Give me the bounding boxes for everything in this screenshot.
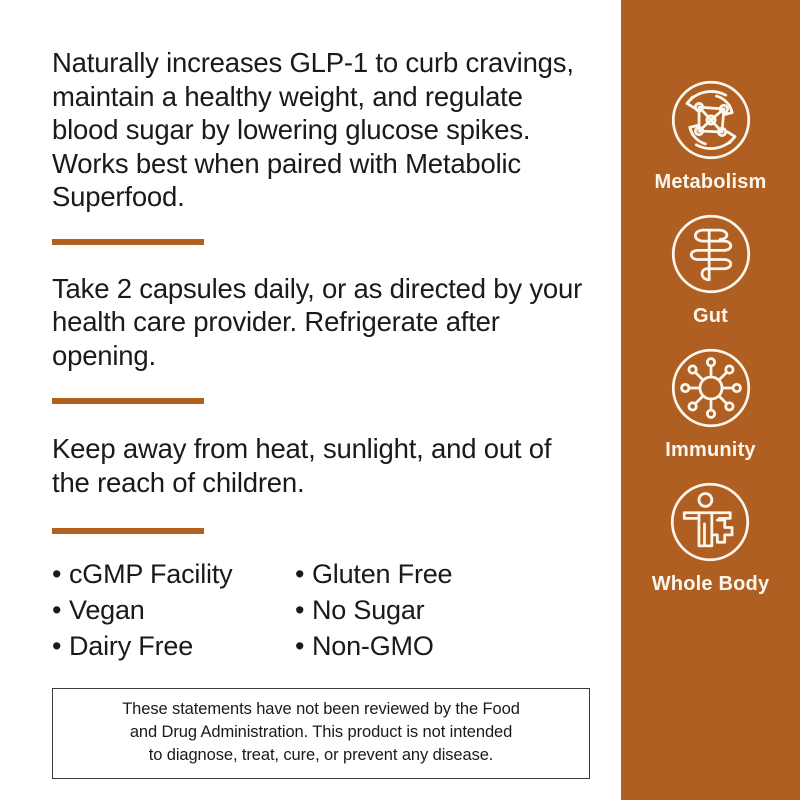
list-item: • No Sugar [295,592,555,628]
divider-rule-2 [52,398,204,404]
whole-body-figure-icon [664,476,756,568]
fda-disclaimer-box: These statements have not been reviewed … [52,688,590,779]
feature-label: Non-GMO [312,628,434,664]
gut-intestines-icon [665,208,757,300]
benefit-item-whole-body: Whole Body [652,476,770,596]
benefit-item-immunity: Immunity [665,342,757,462]
bullet-icon: • [295,556,312,592]
benefit-description-paragraph: Naturally increases GLP-1 to curb cravin… [52,46,591,214]
benefits-sidebar: Metabolism Gut [621,0,800,800]
disclaimer-line: to diagnose, treat, cure, or prevent any… [63,744,579,767]
feature-label: No Sugar [312,592,424,628]
divider-rule-3 [52,528,204,534]
feature-label: cGMP Facility [69,556,232,592]
list-item: • Vegan [52,592,295,628]
feature-label: Dairy Free [69,628,193,664]
feature-certification-list: • cGMP Facility • Vegan • Dairy Free • G… [52,556,591,664]
feature-column-left: • cGMP Facility • Vegan • Dairy Free [52,556,295,664]
storage-warning-paragraph: Keep away from heat, sunlight, and out o… [52,432,591,499]
feature-label: Vegan [69,592,145,628]
list-item: • Non-GMO [295,628,555,664]
feature-label: Gluten Free [312,556,452,592]
benefit-label: Immunity [665,438,756,462]
bullet-icon: • [295,628,312,664]
disclaimer-line: and Drug Administration. This product is… [63,721,579,744]
metabolism-atom-icon [665,74,757,166]
bullet-icon: • [52,556,69,592]
directions-paragraph: Take 2 capsules daily, or as directed by… [52,272,591,373]
left-content-column: Naturally increases GLP-1 to curb cravin… [0,0,621,800]
bullet-icon: • [52,592,69,628]
bullet-icon: • [52,628,69,664]
benefit-label: Whole Body [652,572,770,596]
feature-column-right: • Gluten Free • No Sugar • Non-GMO [295,556,555,664]
divider-rule-1 [52,239,204,245]
list-item: • Gluten Free [295,556,555,592]
disclaimer-line: These statements have not been reviewed … [63,698,579,721]
benefit-label: Metabolism [654,170,766,194]
bullet-icon: • [295,592,312,628]
list-item: • Dairy Free [52,628,295,664]
benefit-label: Gut [693,304,728,328]
immunity-virus-icon [665,342,757,434]
product-info-panel: Naturally increases GLP-1 to curb cravin… [0,0,800,800]
benefit-item-gut: Gut [665,208,757,328]
list-item: • cGMP Facility [52,556,295,592]
benefit-item-metabolism: Metabolism [654,74,766,194]
